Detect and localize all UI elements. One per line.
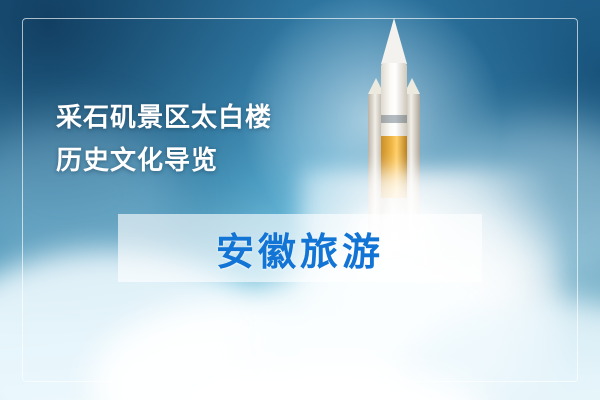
image-canvas: 采石矶景区太白楼 历史文化导览 安徽旅游: [0, 0, 600, 400]
brand-badge: 安徽旅游: [118, 214, 482, 282]
headline-line-1: 采石矶景区太白楼: [56, 96, 396, 139]
headline-line-2: 历史文化导览: [56, 139, 396, 182]
brand-badge-label: 安徽旅游: [216, 221, 384, 276]
headline-text-block: 采石矶景区太白楼 历史文化导览: [56, 96, 396, 182]
rocket-nose-cone: [381, 18, 407, 64]
